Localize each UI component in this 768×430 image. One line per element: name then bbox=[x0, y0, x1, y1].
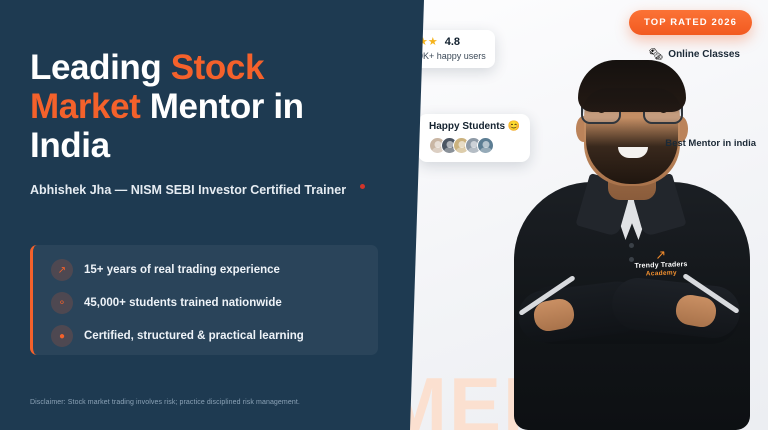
content-inner: Leading Stock Market Mentor in India Abh… bbox=[30, 0, 390, 430]
disclaimer-text: Disclaimer: Stock market trading involve… bbox=[30, 399, 370, 406]
feature-text: 45,000+ students trained nationwide bbox=[84, 297, 282, 309]
users-group-icon: ⚬ bbox=[51, 292, 73, 314]
best-mentor-label: Best Mentor in india bbox=[665, 138, 756, 149]
feature-text: Certified, structured & practical learni… bbox=[84, 330, 304, 342]
list-item: ● Certified, structured & practical lear… bbox=[51, 325, 304, 347]
online-classes-text: Online Classes bbox=[668, 49, 740, 60]
feature-list-card: ↗ 15+ years of real trading experience ⚬… bbox=[30, 245, 378, 355]
rating-subtext: 0K+ happy users bbox=[418, 51, 486, 61]
content-pane: Leading Stock Market Mentor in India Abh… bbox=[0, 0, 424, 430]
headline-line2-accent: Market bbox=[30, 87, 140, 126]
top-rated-badge[interactable]: TOP RATED 2026 bbox=[629, 10, 752, 35]
certificate-dot-icon: ● bbox=[51, 325, 73, 347]
list-item: ↗ 15+ years of real trading experience bbox=[51, 259, 280, 281]
shirt-button bbox=[629, 243, 634, 248]
headline-line1-accent: Stock bbox=[171, 48, 264, 87]
headline-line3: India bbox=[30, 126, 110, 165]
happy-students-card: Happy Students 😊 bbox=[418, 114, 530, 162]
chart-line-icon: ↗ bbox=[51, 259, 73, 281]
decorative-dot-icon bbox=[360, 184, 365, 189]
headline-line2-plain: Mentor in bbox=[140, 87, 303, 126]
hero-banner: MENTOR bbox=[0, 0, 768, 430]
list-item: ⚬ 45,000+ students trained nationwide bbox=[51, 292, 282, 314]
feature-text: 15+ years of real trading experience bbox=[84, 264, 280, 276]
online-classes-icon: 🗞 bbox=[648, 48, 663, 60]
subtitle: Abhishek Jha — NISM SEBI Investor Certif… bbox=[30, 180, 352, 201]
rating-row: ★★ 4.8 bbox=[418, 36, 486, 48]
student-avatars bbox=[429, 137, 520, 154]
rating-value: 4.8 bbox=[445, 36, 460, 48]
page-title: Leading Stock Market Mentor in India bbox=[30, 48, 370, 166]
happy-students-label: Happy Students 😊 bbox=[429, 121, 520, 132]
avatar bbox=[477, 137, 494, 154]
headline-line1-plain: Leading bbox=[30, 48, 171, 87]
mentor-photo: ↗ Trendy Traders Academy bbox=[508, 6, 756, 430]
photo-pane: MENTOR bbox=[390, 0, 768, 430]
online-classes-label: 🗞 Online Classes bbox=[648, 48, 740, 60]
hair bbox=[578, 60, 686, 112]
shirt-button bbox=[629, 257, 634, 262]
